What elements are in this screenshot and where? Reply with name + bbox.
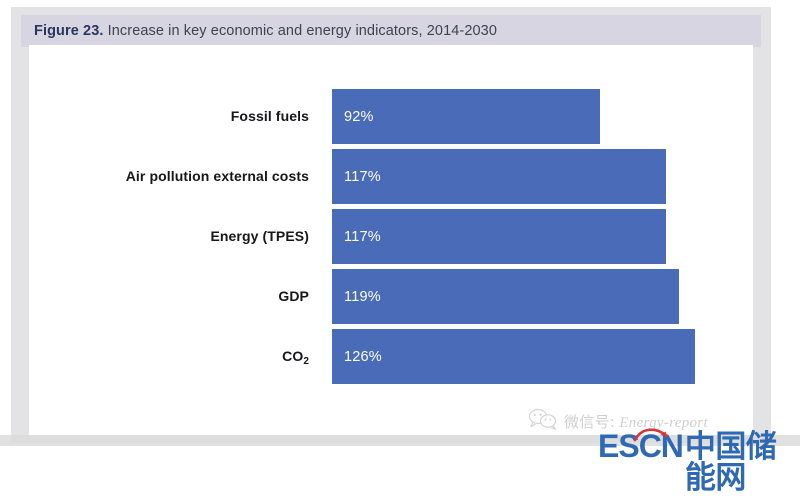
- chart-bar-row: CO2 126%: [29, 329, 753, 384]
- page-root: Figure 23. Increase in key economic and …: [0, 0, 800, 468]
- bar-value-label: 117%: [344, 169, 381, 185]
- bar-track: 117%: [332, 149, 666, 204]
- figure-body: Fossil fuels 92% Air pollution external …: [29, 45, 753, 435]
- chart-bar-row: Fossil fuels 92%: [29, 89, 753, 144]
- bar-value-label: 126%: [344, 349, 382, 365]
- bar-category-label: Air pollution external costs: [29, 149, 309, 204]
- bar-air-pollution-external-costs[interactable]: 117%: [332, 149, 666, 204]
- bar-track: 92%: [332, 89, 600, 144]
- bar-gdp[interactable]: 119%: [332, 269, 679, 324]
- figure-number: Figure 23.: [34, 23, 104, 39]
- bar-category-label: Fossil fuels: [29, 89, 309, 144]
- bar-track: 126%: [332, 329, 695, 384]
- bar-chart: Fossil fuels 92% Air pollution external …: [29, 45, 753, 435]
- bar-value-label: 92%: [344, 109, 374, 125]
- chart-bar-row: Energy (TPES) 117%: [29, 209, 753, 264]
- bar-value-label: 119%: [344, 289, 381, 305]
- page-title: Figure 23. Increase in key economic and …: [34, 23, 497, 39]
- bar-category-label: CO2: [29, 329, 309, 384]
- bar-category-label: GDP: [29, 269, 309, 324]
- chart-bar-row: GDP 119%: [29, 269, 753, 324]
- bar-track: 117%: [332, 209, 666, 264]
- bar-co2[interactable]: 126%: [332, 329, 695, 384]
- watermark-strip: [0, 435, 800, 446]
- bar-category-label: Energy (TPES): [29, 209, 309, 264]
- bar-energy-tpes[interactable]: 117%: [332, 209, 666, 264]
- bar-value-label: 117%: [344, 229, 381, 245]
- figure-title-text: Increase in key economic and energy indi…: [104, 23, 498, 39]
- bar-track: 119%: [332, 269, 679, 324]
- chart-bar-row: Air pollution external costs 117%: [29, 149, 753, 204]
- bar-fossil-fuels[interactable]: 92%: [332, 89, 600, 144]
- figure-header-band: Figure 23. Increase in key economic and …: [21, 15, 761, 47]
- figure-card: Figure 23. Increase in key economic and …: [11, 7, 771, 443]
